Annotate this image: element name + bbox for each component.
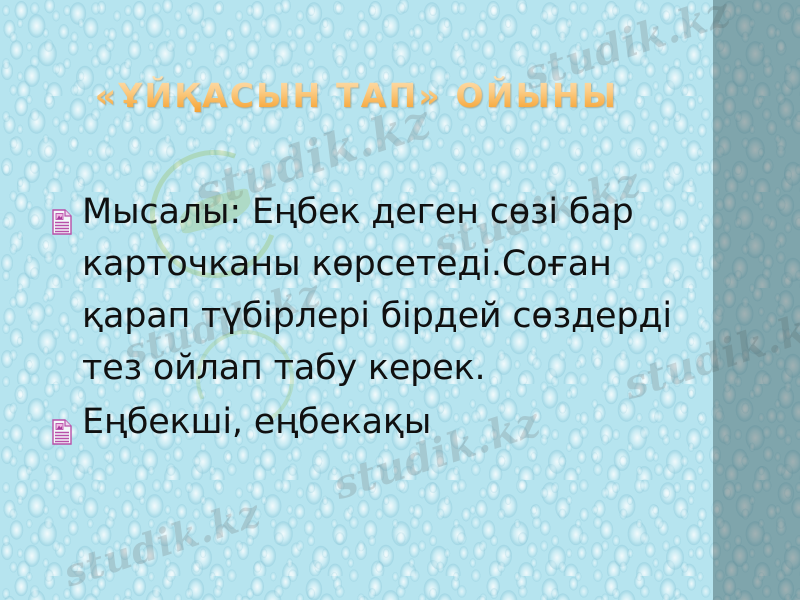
slide-canvas: studik.kz studik.kz studik.kz studik.kz … bbox=[0, 0, 800, 600]
slide-body: Мысалы: Еңбек деген сөзі бар карточканы … bbox=[46, 186, 686, 450]
slide-title: «ҰЙҚАСЫН ТАП» ОЙЫНЫ bbox=[0, 76, 713, 115]
right-shaded-band bbox=[713, 0, 800, 600]
bullet-item: Еңбекші, еңбекақы bbox=[46, 396, 686, 448]
bullet-text: Еңбекші, еңбекақы bbox=[82, 402, 431, 442]
document-bullet-icon bbox=[52, 198, 72, 224]
document-bullet-icon bbox=[52, 408, 72, 434]
bullet-text: Мысалы: Еңбек деген сөзі бар карточканы … bbox=[82, 192, 672, 388]
bullet-item: Мысалы: Еңбек деген сөзі бар карточканы … bbox=[46, 186, 686, 394]
